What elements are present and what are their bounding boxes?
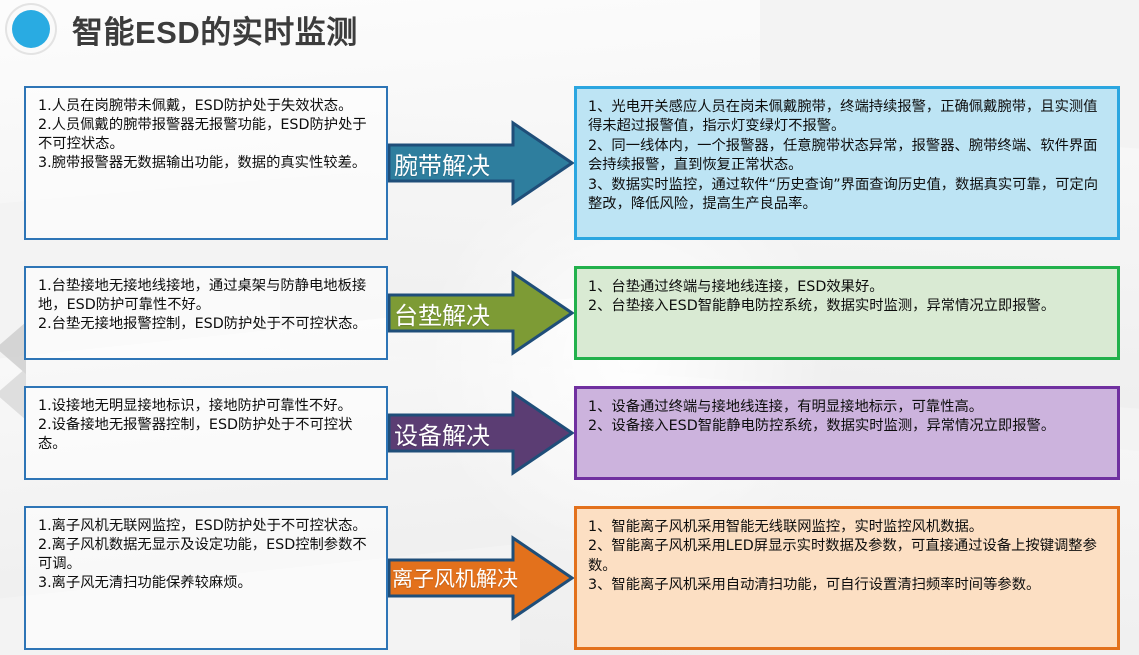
- solution-line: 2、设备接入ESD智能静电防控系统，数据实时监测，异常情况立即报警。: [588, 417, 1106, 436]
- solution-row: 1.台垫接地无接地线接地，通过桌架与防静电地板接地，ESD防护可靠性不好。2.台…: [0, 266, 1139, 360]
- problem-line: 3.离子风无清扫功能保养较麻烦。: [38, 574, 376, 593]
- problem-box: 1.人员在岗腕带未佩戴，ESD防护处于失效状态。2.人员佩戴的腕带报警器无报警功…: [24, 86, 388, 240]
- solution-arrow: 台垫解决: [388, 266, 574, 360]
- bullet-icon: [12, 10, 50, 48]
- solution-arrow: 设备解决: [388, 386, 574, 480]
- solution-line: 2、智能离子风机采用LED屏显示实时数据及参数，可直接通过设备上按键调整参数。: [588, 537, 1106, 576]
- problem-box: 1.台垫接地无接地线接地，通过桌架与防静电地板接地，ESD防护可靠性不好。2.台…: [24, 266, 388, 360]
- arrow-label: 设备解决: [388, 416, 574, 451]
- page-title: 智能ESD的实时监测: [72, 7, 358, 52]
- arrow-label: 腕带解决: [388, 146, 574, 181]
- problem-line: 2.台垫无接地报警控制，ESD防护处于不可控状态。: [38, 315, 376, 334]
- problem-line: 3.腕带报警器无数据输出功能，数据的真实性较差。: [38, 154, 376, 173]
- solution-box: 1、设备通过终端与接地线连接，有明显接地标示，可靠性高。2、设备接入ESD智能静…: [574, 386, 1120, 480]
- problem-line: 1.台垫接地无接地线接地，通过桌架与防静电地板接地，ESD防护可靠性不好。: [38, 277, 376, 315]
- solution-line: 2、台垫接入ESD智能静电防控系统，数据实时监测，异常情况立即报警。: [588, 297, 1106, 316]
- page-header: 智能ESD的实时监测: [0, 0, 1139, 58]
- problem-line: 2.人员佩戴的腕带报警器无报警功能，ESD防护处于不可控状态。: [38, 116, 376, 154]
- problem-line: 1.人员在岗腕带未佩戴，ESD防护处于失效状态。: [38, 97, 376, 116]
- solution-box: 1、台垫通过终端与接地线连接，ESD效果好。2、台垫接入ESD智能静电防控系统，…: [574, 266, 1120, 360]
- solution-row: 1.设接地无明显接地标识，接地防护可靠性不好。2.设备接地无报警器控制，ESD防…: [0, 386, 1139, 480]
- problem-line: 2.设备接地无报警器控制，ESD防护处于不可控状态。: [38, 416, 376, 454]
- solution-line: 1、设备通过终端与接地线连接，有明显接地标示，可靠性高。: [588, 398, 1106, 417]
- solution-line: 3、数据实时监控，通过软件“历史查询”界面查询历史值，数据真实可靠，可定向整改，…: [588, 176, 1106, 215]
- arrow-label: 台垫解决: [388, 296, 574, 331]
- solution-line: 1、光电开关感应人员在岗未佩戴腕带，终端持续报警，正确佩戴腕带，且实测值得未超过…: [588, 98, 1106, 137]
- solution-line: 2、同一线体内，一个报警器，任意腕带状态异常，报警器、腕带终端、软件界面会持续报…: [588, 137, 1106, 176]
- solution-line: 1、台垫通过终端与接地线连接，ESD效果好。: [588, 278, 1106, 297]
- arrow-label: 离子风机解决: [388, 563, 574, 593]
- solution-arrow: 离子风机解决: [388, 506, 574, 650]
- solution-row: 1.离子风机无联网监控，ESD防护处于不可控状态。2.离子风机数据无显示及设定功…: [0, 506, 1139, 650]
- problem-line: 1.离子风机无联网监控，ESD防护处于不可控状态。: [38, 517, 376, 536]
- solution-line: 3、智能离子风机采用自动清扫功能，可自行设置清扫频率时间等参数。: [588, 576, 1106, 595]
- solution-line: 1、智能离子风机采用智能无线联网监控，实时监控风机数据。: [588, 518, 1106, 537]
- problem-line: 1.设接地无明显接地标识，接地防护可靠性不好。: [38, 397, 376, 416]
- problem-line: 2.离子风机数据无显示及设定功能，ESD控制参数不可调。: [38, 536, 376, 574]
- problem-box: 1.设接地无明显接地标识，接地防护可靠性不好。2.设备接地无报警器控制，ESD防…: [24, 386, 388, 480]
- solution-box: 1、智能离子风机采用智能无线联网监控，实时监控风机数据。2、智能离子风机采用LE…: [574, 506, 1120, 650]
- solution-row: 1.人员在岗腕带未佩戴，ESD防护处于失效状态。2.人员佩戴的腕带报警器无报警功…: [0, 86, 1139, 240]
- solution-arrow: 腕带解决: [388, 86, 574, 240]
- solution-box: 1、光电开关感应人员在岗未佩戴腕带，终端持续报警，正确佩戴腕带，且实测值得未超过…: [574, 86, 1120, 240]
- problem-box: 1.离子风机无联网监控，ESD防护处于不可控状态。2.离子风机数据无显示及设定功…: [24, 506, 388, 650]
